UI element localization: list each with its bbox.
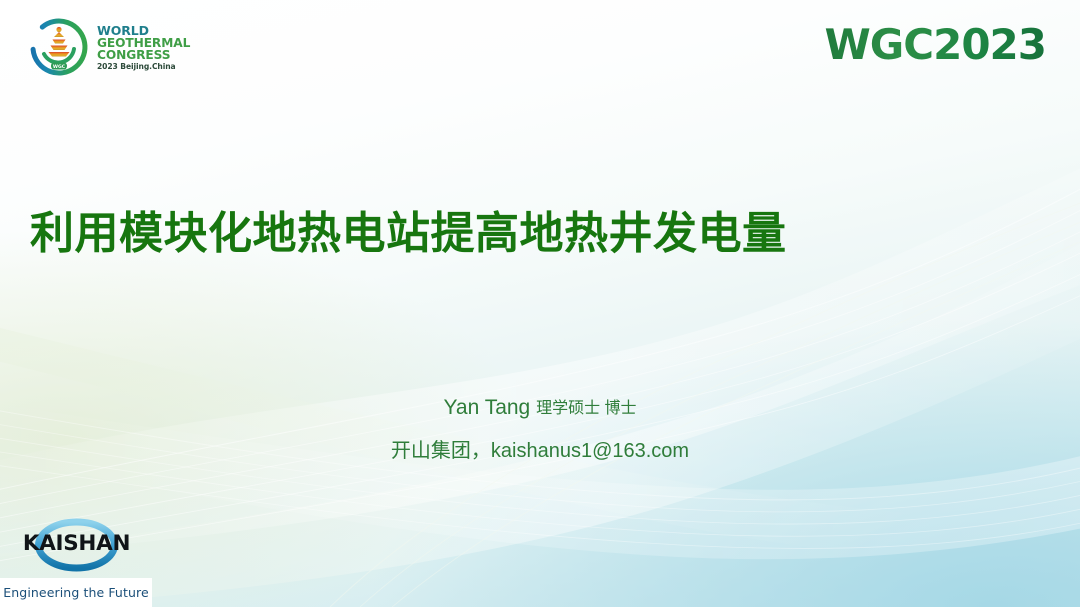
author-name-line: Yan Tang 理学硕士 博士 — [0, 392, 1080, 424]
wgc-badge-text: WGC — [53, 64, 66, 70]
wgc-congress-logo: WGC WORLD GEOTHERMAL CONGRESS 2023 Beiji… — [28, 12, 178, 82]
title-slide: WGC WORLD GEOTHERMAL CONGRESS 2023 Beiji… — [0, 0, 1080, 607]
kaishan-company-logo: KAISHAN Engineering the Future — [0, 515, 152, 607]
author-affiliation-line: 开山集团，kaishanus1@163.com — [0, 436, 1080, 466]
wgc-logo-line-location: 2023 Beijing.China — [97, 63, 190, 71]
page-title: 利用模块化地热电站提高地热井发电量 — [30, 208, 1040, 260]
author-degrees: 理学硕士 博士 — [536, 400, 636, 417]
wgc2023-wordmark: WGC2023 — [824, 20, 1046, 69]
background-wave-decoration — [0, 0, 1080, 607]
wgc-emblem-icon: WGC — [28, 16, 90, 78]
wgc-logo-wordmark: WORLD GEOTHERMAL CONGRESS 2023 Beijing.C… — [97, 23, 190, 72]
wgc-logo-line-world: WORLD — [97, 24, 190, 37]
kaishan-tagline-bar: Engineering the Future — [0, 578, 152, 607]
author-name: Yan Tang — [443, 396, 530, 419]
author-block: Yan Tang 理学硕士 博士 开山集团，kaishanus1@163.com — [0, 392, 1080, 466]
kaishan-tagline: Engineering the Future — [3, 585, 148, 600]
kaishan-name: KAISHAN — [14, 531, 139, 556]
wgc-logo-line-congress: CONGRESS — [97, 49, 190, 62]
